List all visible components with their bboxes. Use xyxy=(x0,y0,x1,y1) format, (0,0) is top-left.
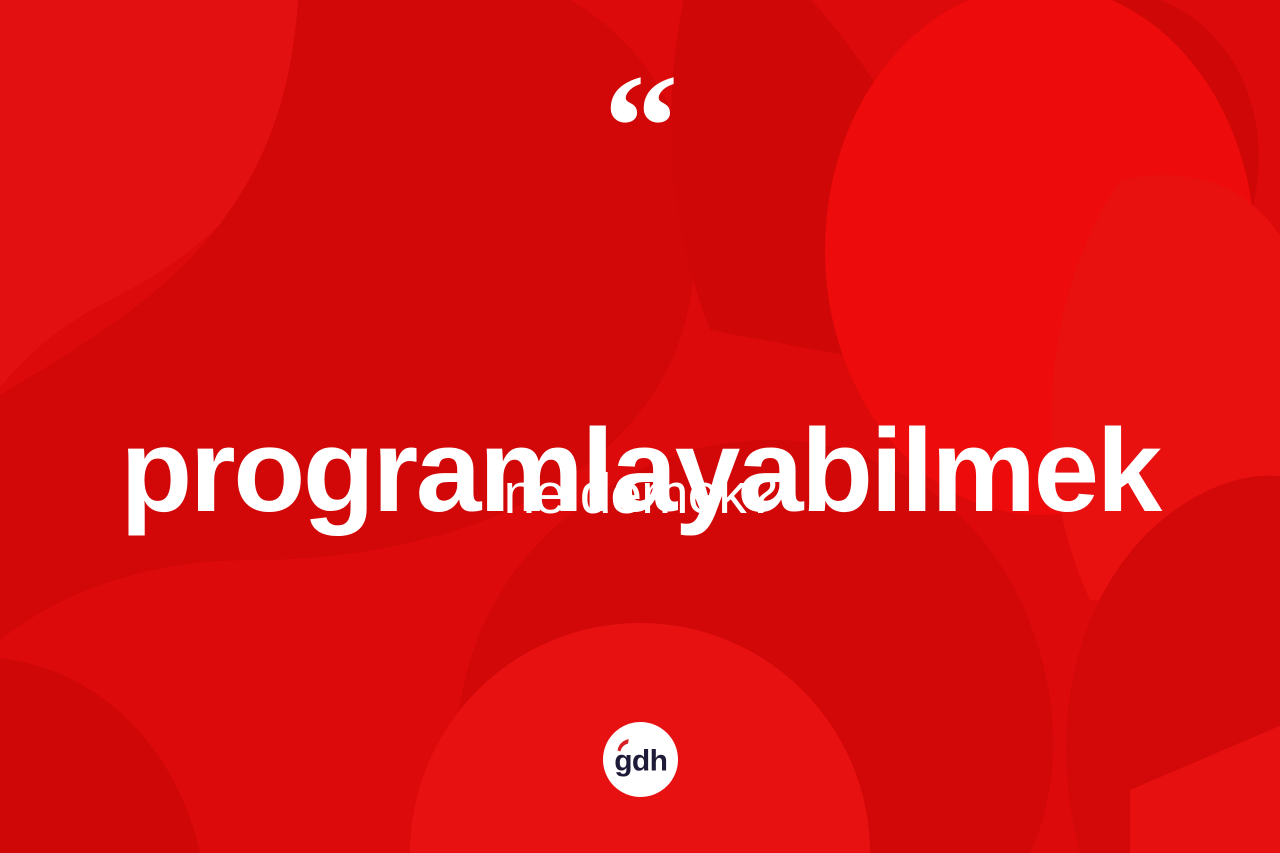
card-content: “ programlayabilmek ne demek? gdh xyxy=(0,0,1280,853)
quote-card: “ programlayabilmek ne demek? gdh xyxy=(0,0,1280,853)
gdh-logo-svg: gdh xyxy=(603,722,678,797)
logo-wordmark: gdh xyxy=(614,745,667,778)
left-double-quotation-mark-icon: “ xyxy=(0,52,1280,202)
gdh-logo[interactable]: gdh xyxy=(603,722,678,797)
page-subtitle: ne demek? xyxy=(0,466,1280,523)
